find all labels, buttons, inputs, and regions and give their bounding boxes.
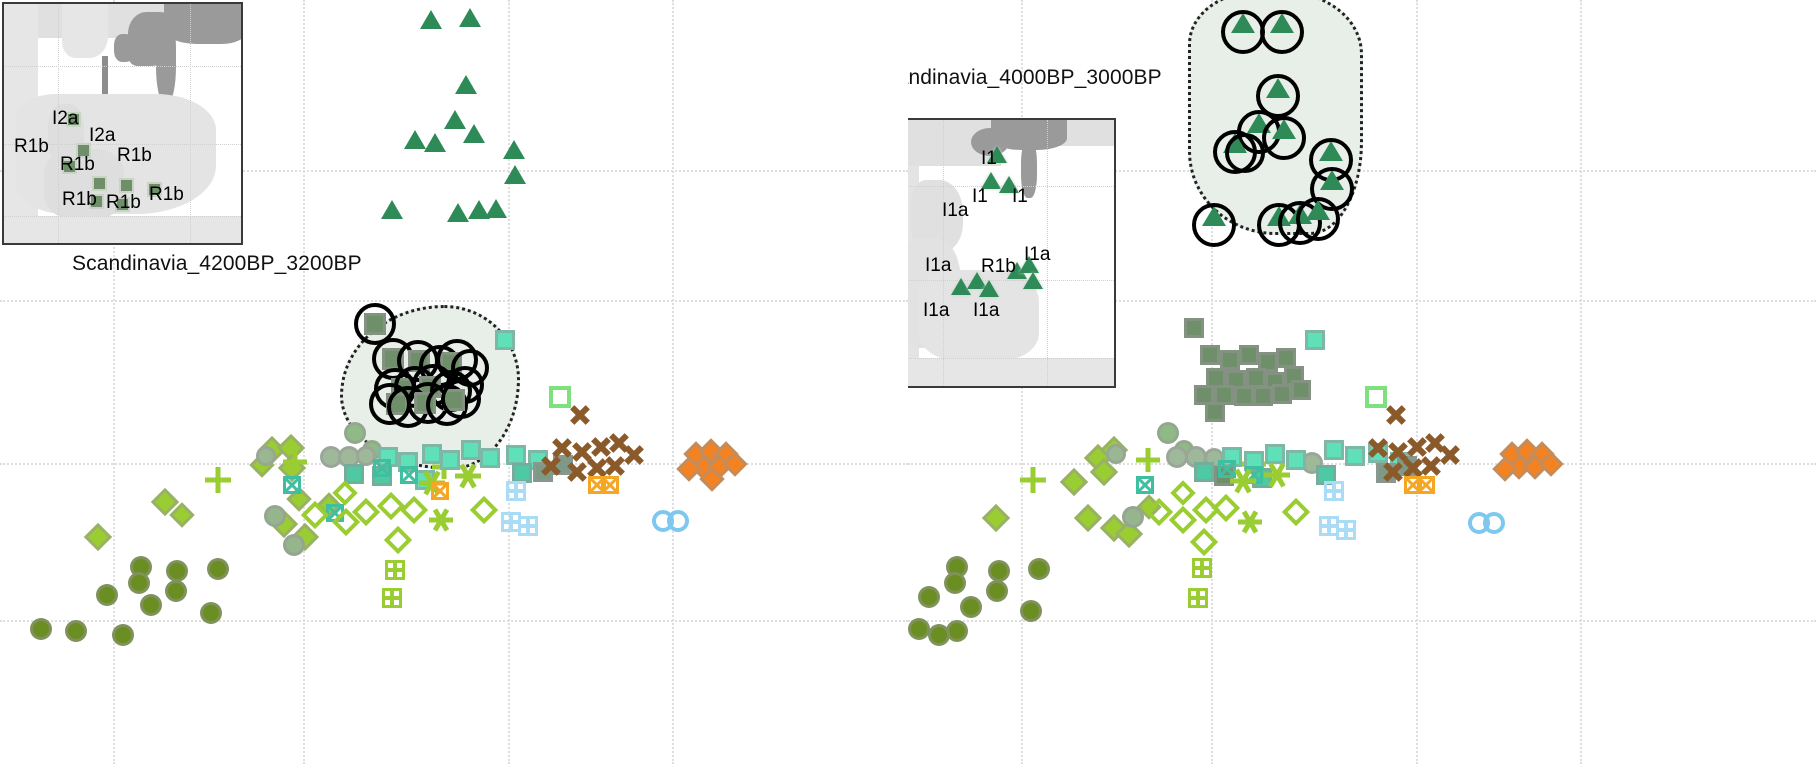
pca-figure: I2a I2a R1b R1b R1b R1b R1b R1b Scandina… bbox=[0, 0, 1816, 764]
map-haplogroup-label: I1a bbox=[925, 255, 951, 277]
scatter-point-square bbox=[1291, 380, 1311, 400]
scatter-point-square bbox=[1194, 462, 1214, 482]
scatter-point-open-square bbox=[1365, 386, 1387, 408]
map-haplogroup-label: R1b bbox=[981, 256, 1016, 278]
scatter-point-square bbox=[422, 444, 442, 464]
scatter-point-circle bbox=[908, 618, 930, 640]
scatter-point-open-diamond bbox=[1282, 498, 1310, 526]
scatter-point-square bbox=[1345, 446, 1365, 466]
scatter-point-plus-box bbox=[1336, 520, 1356, 540]
scatter-point-square bbox=[1305, 330, 1325, 350]
scatter-point-circle bbox=[200, 602, 222, 624]
highlight-ring bbox=[1221, 10, 1265, 54]
scatter-point-square bbox=[1272, 384, 1292, 404]
scatter-point-square bbox=[506, 445, 526, 465]
scatter-point-open-diamond bbox=[1190, 528, 1218, 556]
map-haplogroup-label: R1b bbox=[60, 154, 95, 176]
scatter-point-boxed-x bbox=[1136, 476, 1154, 494]
scatter-point-x bbox=[540, 455, 562, 477]
scatter-point-circle bbox=[165, 580, 187, 602]
highlight-ring bbox=[1225, 133, 1265, 173]
scatter-point-plus-box bbox=[1192, 558, 1212, 578]
panel-title-right: Scandinavia_4000BP_3000BP bbox=[908, 66, 1162, 90]
map-haplogroup-label: I1a bbox=[973, 300, 999, 322]
scatter-point-circle bbox=[207, 558, 229, 580]
scatter-point-x bbox=[566, 461, 588, 483]
scatter-point-triangle bbox=[504, 165, 526, 184]
scatter-point-open-diamond bbox=[1170, 480, 1195, 505]
scatter-point-square bbox=[344, 464, 364, 484]
map-haplogroup-label: R1b bbox=[14, 136, 49, 158]
scatter-point-circle bbox=[264, 505, 286, 527]
scatter-point-x bbox=[1382, 461, 1404, 483]
map-haplogroup-label: I1a bbox=[1024, 244, 1050, 266]
scatter-point-x bbox=[1420, 455, 1442, 477]
scatter-point-plus bbox=[283, 450, 307, 474]
scatter-point-square bbox=[1234, 386, 1254, 406]
scatter-point-triangle bbox=[455, 75, 477, 94]
scatter-point-triangle bbox=[404, 130, 426, 149]
map-haplogroup-label: R1b bbox=[117, 145, 152, 167]
map-haplogroup-label: R1b bbox=[62, 189, 97, 211]
scatter-point-plus bbox=[1136, 448, 1160, 472]
scatter-point-plus-box bbox=[518, 516, 538, 536]
scatter-point-square bbox=[1200, 345, 1220, 365]
scatter-point-square bbox=[1246, 368, 1266, 388]
gridline-v bbox=[1580, 0, 1582, 764]
scatter-point-boxed-x bbox=[601, 476, 619, 494]
highlight-ring bbox=[1192, 203, 1236, 247]
scatter-point-boxed-x bbox=[283, 476, 301, 494]
scatter-point-triangle bbox=[459, 8, 481, 27]
scatter-point-x bbox=[1367, 437, 1389, 459]
scatter-point-circle bbox=[988, 560, 1010, 582]
gridline-v bbox=[1416, 0, 1418, 764]
highlight-ring bbox=[1260, 10, 1304, 54]
scatter-point-asterisk bbox=[455, 463, 481, 489]
scatter-point-square bbox=[1276, 348, 1296, 368]
scatter-point-circle bbox=[928, 624, 950, 646]
map-haplogroup-label: I2a bbox=[52, 108, 78, 130]
scatter-point-circle bbox=[166, 560, 188, 582]
scatter-point-x bbox=[1439, 444, 1461, 466]
scatter-point-square bbox=[1324, 440, 1344, 460]
map-haplogroup-label: I1 bbox=[1012, 186, 1028, 208]
scatter-point-circle bbox=[96, 584, 118, 606]
scatter-point-square bbox=[1205, 402, 1225, 422]
scatter-point-square bbox=[1220, 350, 1240, 370]
scatter-point-square bbox=[1265, 444, 1285, 464]
inset-map-right: I1 I1 I1 I1a I1a R1b I1a I1a I1a bbox=[908, 118, 1116, 388]
scatter-point-circle bbox=[1028, 558, 1050, 580]
scatter-point-plus bbox=[205, 467, 231, 493]
scatter-point-open-diamond bbox=[1212, 494, 1240, 522]
gridline-h bbox=[0, 300, 908, 302]
gridline-h bbox=[908, 620, 1816, 622]
scatter-point-circle bbox=[944, 572, 966, 594]
gridline-v bbox=[303, 0, 305, 764]
scatter-point-circle bbox=[30, 618, 52, 640]
scatter-point-x bbox=[604, 455, 626, 477]
scatter-point-open-diamond bbox=[384, 526, 412, 554]
scatter-point-open-diamond bbox=[400, 496, 428, 524]
scatter-point-x bbox=[623, 444, 645, 466]
panel-right: I1 I1 I1 I1a I1a R1b I1a I1a I1a Scandin… bbox=[908, 0, 1816, 764]
scatter-point-open-diamond bbox=[377, 492, 405, 520]
scatter-point-square bbox=[480, 448, 500, 468]
scatter-point-plus-box bbox=[385, 560, 405, 580]
scatter-point-plus-box bbox=[382, 588, 402, 608]
scatter-point-circle bbox=[1020, 600, 1042, 622]
scatter-point-open-square bbox=[549, 386, 571, 408]
scatter-point-circle bbox=[344, 422, 366, 444]
scatter-point-triangle bbox=[381, 200, 403, 219]
scatter-point-triangle bbox=[424, 133, 446, 152]
scatter-point-square bbox=[1184, 318, 1204, 338]
scatter-point-circle bbox=[960, 596, 982, 618]
map-haplogroup-label: I2a bbox=[89, 125, 115, 147]
scatter-point-triangle bbox=[420, 10, 442, 29]
scatter-point-diamond bbox=[1060, 468, 1088, 496]
map-haplogroup-label: I1a bbox=[942, 200, 968, 222]
inset-map-left: I2a I2a R1b R1b R1b R1b R1b R1b bbox=[2, 2, 243, 245]
scatter-point-plus-box bbox=[506, 481, 526, 501]
map-marker-triangle bbox=[1023, 272, 1043, 289]
scatter-point-plus-box bbox=[1324, 481, 1344, 501]
scatter-point-circle bbox=[140, 594, 162, 616]
scatter-point-triangle bbox=[447, 203, 469, 222]
map-haplogroup-label: R1b bbox=[149, 184, 184, 206]
scatter-point-diamond bbox=[84, 523, 112, 551]
map-haplogroup-label: I1 bbox=[972, 186, 988, 208]
panel-left: I2a I2a R1b R1b R1b R1b R1b R1b Scandina… bbox=[0, 0, 908, 764]
scatter-point-circle bbox=[128, 572, 150, 594]
scatter-point-square bbox=[1253, 386, 1273, 406]
scatter-point-plus-box bbox=[1188, 588, 1208, 608]
scatter-point-boxed-x bbox=[373, 459, 391, 477]
gridline-v bbox=[672, 0, 674, 764]
scatter-point-asterisk bbox=[1264, 462, 1290, 488]
scatter-point-asterisk bbox=[429, 508, 453, 532]
scatter-point-circle bbox=[986, 580, 1008, 602]
map-marker-triangle bbox=[979, 280, 999, 297]
scatter-point-boxed-x bbox=[400, 466, 418, 484]
scatter-point-open-diamond bbox=[470, 496, 498, 524]
panel-title-left: Scandinavia_4200BP_3200BP bbox=[72, 252, 362, 276]
scatter-point-circle bbox=[256, 446, 276, 466]
scatter-point-x bbox=[1385, 404, 1407, 426]
scatter-point-triangle bbox=[503, 140, 525, 159]
scatter-point-square bbox=[495, 330, 515, 350]
map-haplogroup-label: R1b bbox=[106, 192, 141, 214]
scatter-point-diamond bbox=[982, 504, 1010, 532]
scatter-point-open-circle bbox=[667, 510, 689, 532]
scatter-point-x bbox=[569, 404, 591, 426]
scatter-point-circle bbox=[1106, 444, 1126, 464]
map-haplogroup-label: I1a bbox=[923, 300, 949, 322]
scatter-point-square bbox=[1239, 345, 1259, 365]
highlight-ring bbox=[1262, 116, 1306, 160]
map-marker-square bbox=[119, 178, 134, 193]
scatter-point-triangle bbox=[485, 199, 507, 218]
scatter-point-asterisk bbox=[1238, 510, 1262, 534]
scatter-point-triangle bbox=[463, 124, 485, 143]
scatter-point-boxed-x bbox=[431, 482, 449, 500]
scatter-point-circle bbox=[918, 586, 940, 608]
scatter-point-boxed-x bbox=[1417, 476, 1435, 494]
scatter-point-square bbox=[512, 463, 532, 483]
scatter-point-square bbox=[461, 440, 481, 460]
scatter-point-plus bbox=[1020, 467, 1046, 493]
scatter-point-circle bbox=[1122, 506, 1144, 528]
scatter-point-circle bbox=[112, 624, 134, 646]
scatter-point-circle bbox=[65, 620, 87, 642]
highlight-ring bbox=[1296, 197, 1340, 241]
scatter-point-diamond bbox=[1074, 504, 1102, 532]
scatter-point-circle bbox=[1157, 422, 1179, 444]
scatter-point-circle bbox=[283, 534, 305, 556]
gridline-h bbox=[0, 620, 908, 622]
scatter-point-asterisk bbox=[1230, 468, 1256, 494]
scatter-point-open-circle bbox=[1483, 512, 1505, 534]
map-haplogroup-label: I1 bbox=[981, 148, 997, 170]
highlight-ring bbox=[441, 379, 481, 419]
